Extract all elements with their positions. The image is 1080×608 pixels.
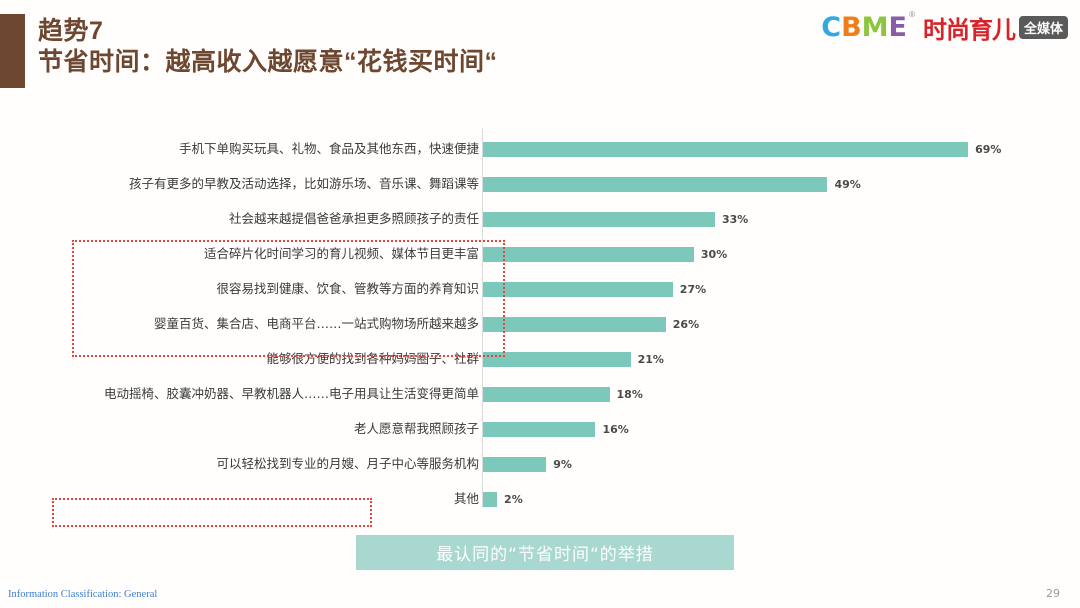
bar (483, 387, 610, 402)
bar-category-label: 手机下单购买玩具、礼物、食品及其他东西，快速便捷 (19, 143, 479, 156)
bar-container: 9% (483, 448, 572, 481)
shishang-yuer-text: 时尚育儿 (923, 10, 1015, 45)
information-classification: Information Classification: General (8, 589, 157, 600)
page-title: 趋势7 节省时间：越高收入越愿意“花钱买时间“ (38, 16, 738, 77)
bar (483, 142, 968, 157)
bar (483, 422, 595, 437)
bar-container: 33% (483, 203, 748, 236)
cbme-letter-m: M (862, 12, 889, 43)
logo-group: C B M E ® 时尚育儿 全媒体 (821, 10, 1068, 45)
horizontal-bar-chart: 手机下单购买玩具、礼物、食品及其他东西，快速便捷69%孩子有更多的早教及活动选择… (0, 120, 1080, 515)
bar-value-label: 9% (553, 458, 572, 471)
bar-category-label: 老人愿意帮我照顾孩子 (19, 423, 479, 436)
cbme-logo: C B M E ® (821, 12, 907, 43)
bar (483, 352, 631, 367)
bar-container: 16% (483, 413, 629, 446)
bar-container: 49% (483, 168, 861, 201)
bar-value-label: 27% (680, 283, 706, 296)
bar-category-label: 很容易找到健康、饮食、管教等方面的养育知识 (19, 283, 479, 296)
chart-caption: 最认同的“节省时间“的举措 (356, 535, 734, 570)
bar-category-label: 可以轻松找到专业的月嫂、月子中心等服务机构 (19, 458, 479, 471)
bar-value-label: 16% (602, 423, 628, 436)
bar-container: 21% (483, 343, 664, 376)
bar-category-label: 其他 (19, 493, 479, 506)
bar-category-label: 孩子有更多的早教及活动选择，比如游乐场、音乐课、舞蹈课等 (19, 178, 479, 191)
bar-value-label: 33% (722, 213, 748, 226)
cbme-letter-c: C (821, 12, 841, 43)
bar-value-label: 2% (504, 493, 523, 506)
chart-row: 老人愿意帮我照顾孩子16% (0, 413, 1080, 446)
bar-container: 26% (483, 308, 699, 341)
bar (483, 247, 694, 262)
slide: 趋势7 节省时间：越高收入越愿意“花钱买时间“ C B M E ® 时尚育儿 全… (0, 0, 1080, 608)
chart-row: 适合碎片化时间学习的育儿视频、媒体节目更丰富30% (0, 238, 1080, 271)
title-eyebrow: 趋势7 (38, 16, 738, 47)
chart-row: 很容易找到健康、饮食、管教等方面的养育知识27% (0, 273, 1080, 306)
quanmeiti-badge: 全媒体 (1019, 16, 1068, 39)
bar-value-label: 69% (975, 143, 1001, 156)
bar-value-label: 30% (701, 248, 727, 261)
bar-category-label: 适合碎片化时间学习的育儿视频、媒体节目更丰富 (19, 248, 479, 261)
bar (483, 457, 546, 472)
bar-container: 27% (483, 273, 706, 306)
chart-row: 可以轻松找到专业的月嫂、月子中心等服务机构9% (0, 448, 1080, 481)
bar (483, 212, 715, 227)
bar-value-label: 18% (617, 388, 643, 401)
bar (483, 492, 497, 507)
bar-value-label: 49% (834, 178, 860, 191)
chart-row: 孩子有更多的早教及活动选择，比如游乐场、音乐课、舞蹈课等49% (0, 168, 1080, 201)
bar (483, 177, 827, 192)
bar-container: 2% (483, 483, 523, 516)
chart-row: 婴童百货、集合店、电商平台……一站式购物场所越来越多26% (0, 308, 1080, 341)
chart-row: 社会越来越提倡爸爸承担更多照顾孩子的责任33% (0, 203, 1080, 236)
chart-row: 其他2% (0, 483, 1080, 516)
registered-trademark-icon: ® (909, 10, 915, 19)
bar-value-label: 21% (638, 353, 664, 366)
page-number: 29 (1046, 587, 1060, 600)
bar-category-label: 电动摇椅、胶囊冲奶器、早教机器人……电子用具让生活变得更简单 (19, 388, 479, 401)
bar (483, 282, 673, 297)
cbme-letter-b: B (841, 12, 862, 43)
bar-category-label: 社会越来越提倡爸爸承担更多照顾孩子的责任 (19, 213, 479, 226)
chart-row: 能够很方便的找到各种妈妈圈子、社群21% (0, 343, 1080, 376)
title-main: 节省时间：越高收入越愿意“花钱买时间“ (38, 47, 738, 78)
bar (483, 317, 666, 332)
bar-category-label: 能够很方便的找到各种妈妈圈子、社群 (19, 353, 479, 366)
bar-category-label: 婴童百货、集合店、电商平台……一站式购物场所越来越多 (19, 318, 479, 331)
bar-container: 18% (483, 378, 643, 411)
bar-value-label: 26% (673, 318, 699, 331)
chart-row: 电动摇椅、胶囊冲奶器、早教机器人……电子用具让生活变得更简单18% (0, 378, 1080, 411)
bar-container: 69% (483, 133, 1001, 166)
chart-row: 手机下单购买玩具、礼物、食品及其他东西，快速便捷69% (0, 133, 1080, 166)
shishang-yuer-logo: 时尚育儿 全媒体 (923, 10, 1068, 45)
bar-container: 30% (483, 238, 727, 271)
cbme-letter-e: E (889, 12, 907, 43)
title-accent-bar (0, 14, 25, 88)
